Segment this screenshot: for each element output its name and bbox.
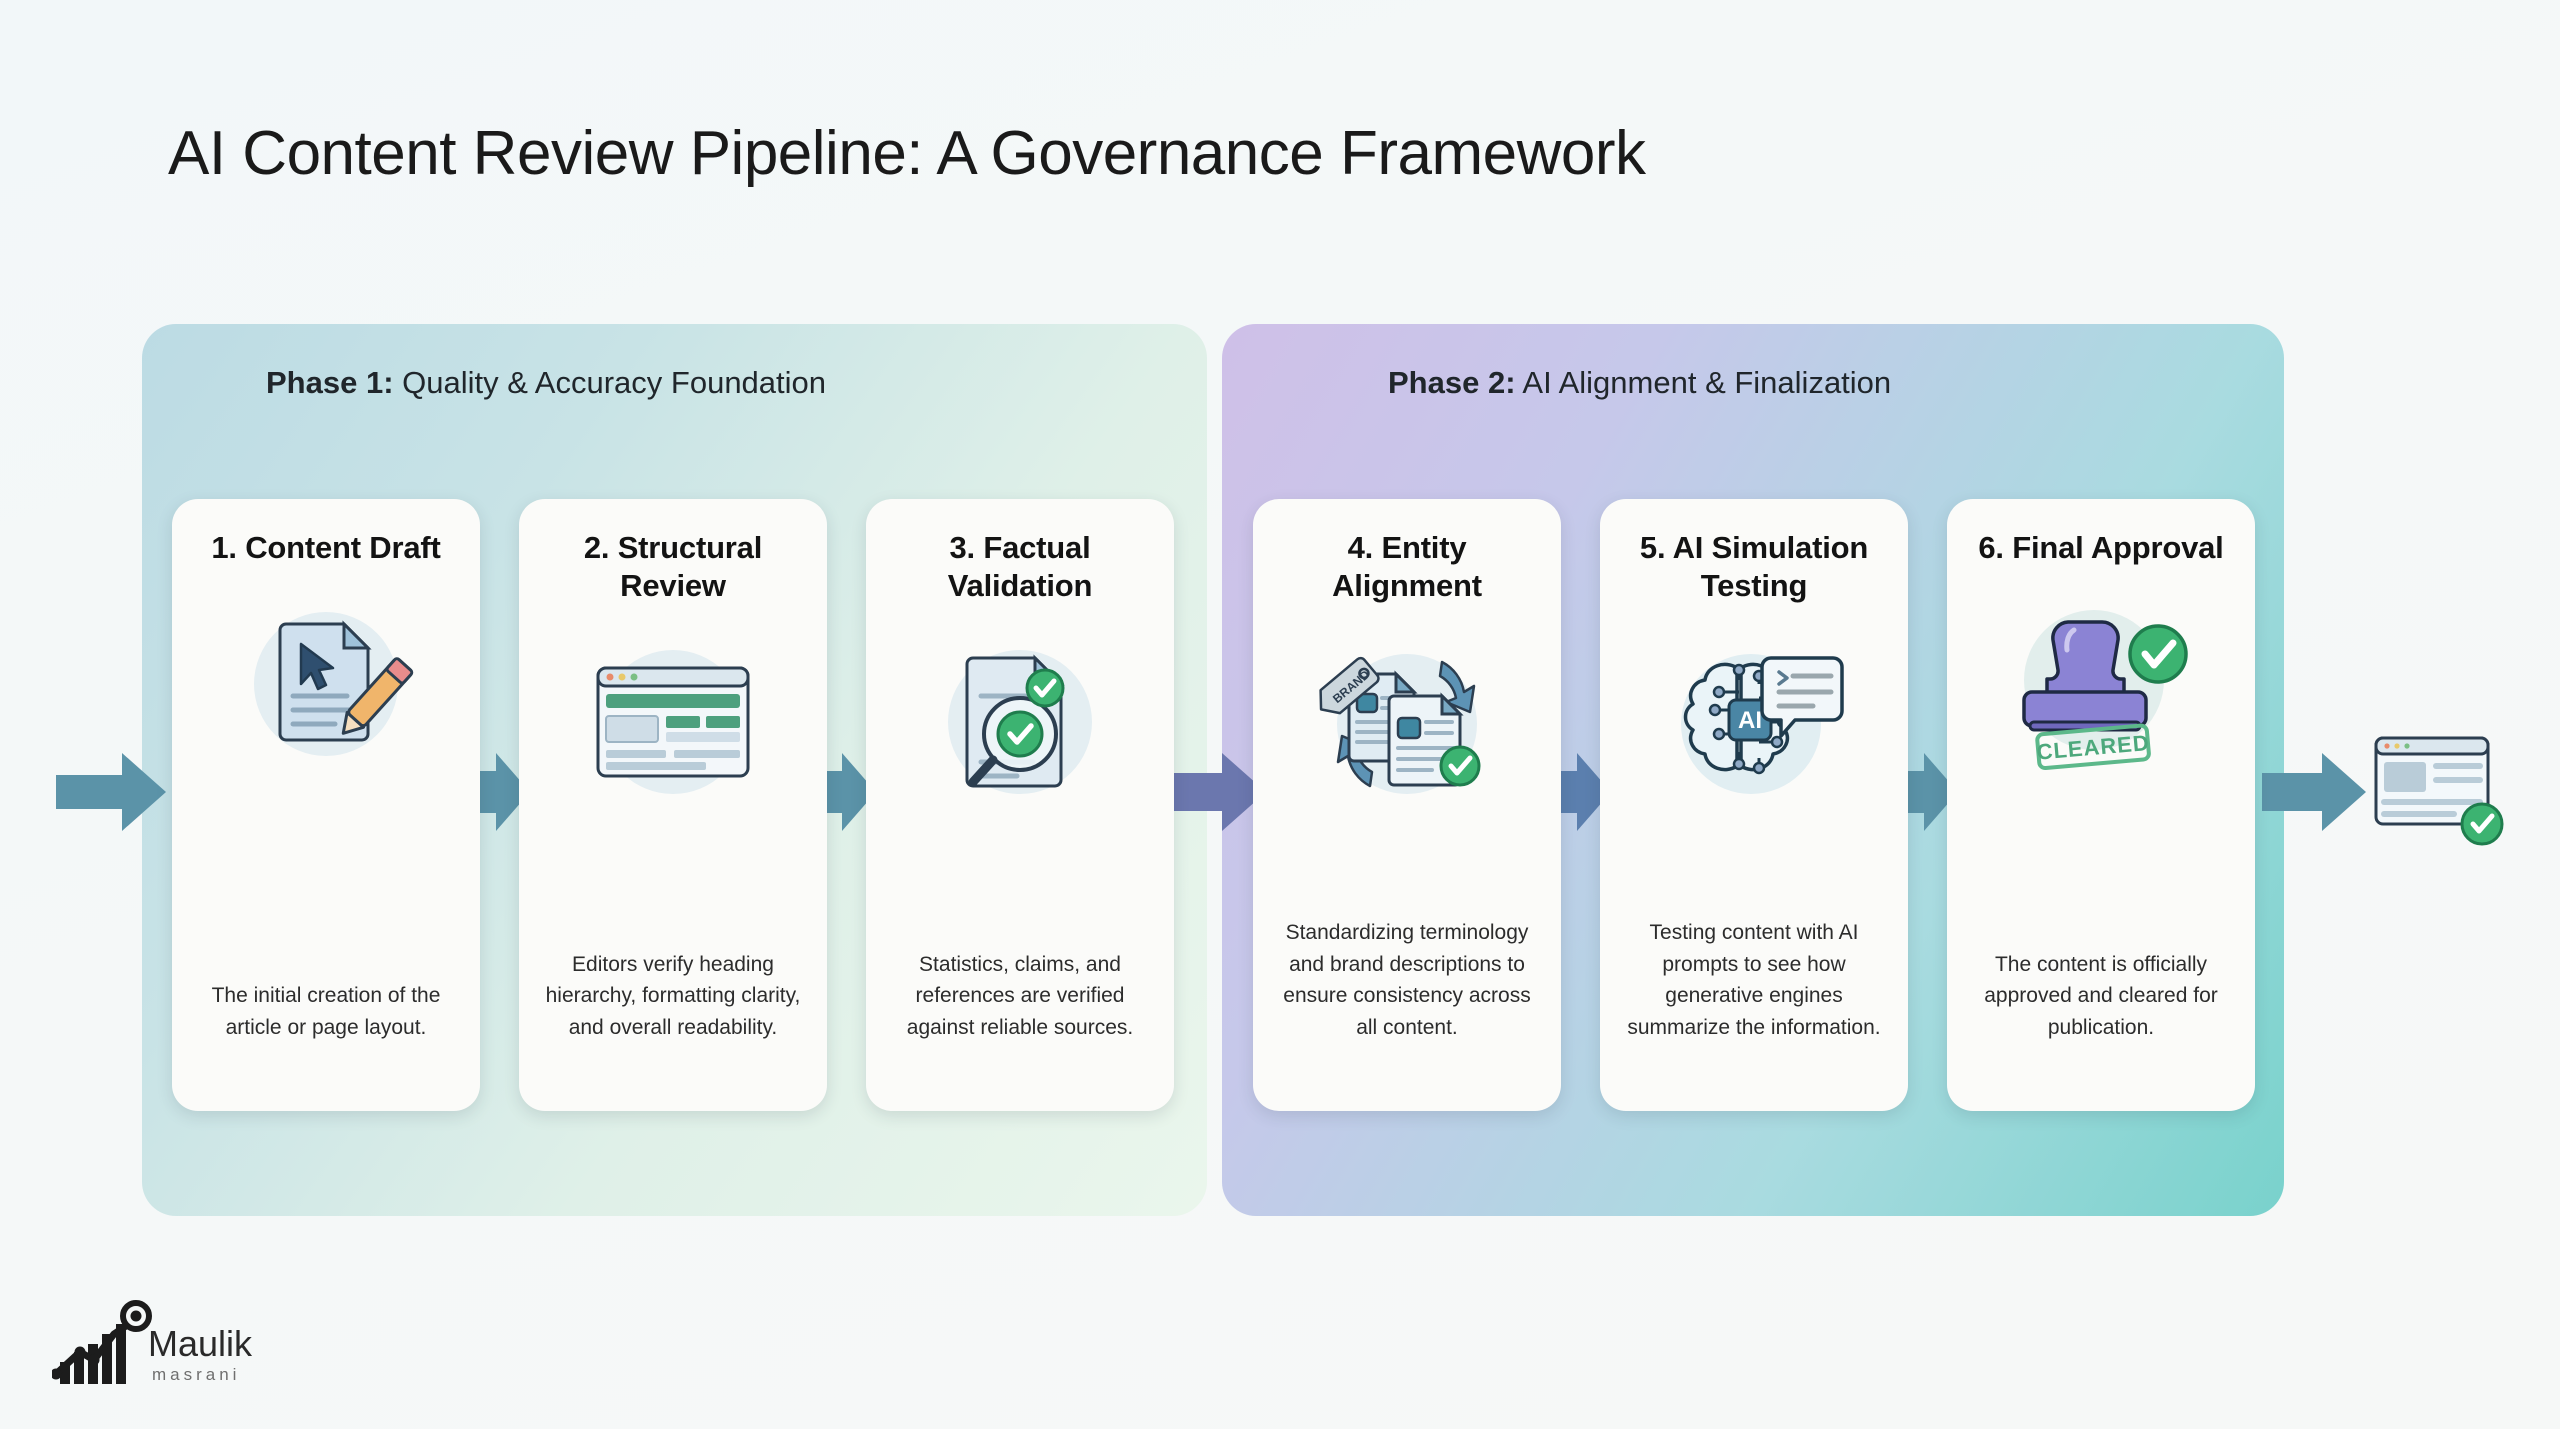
document-magnifier-check-icon (920, 627, 1120, 817)
step-6-description: The content is officially approved and c… (1965, 949, 2237, 1044)
infographic-canvas: AI Content Review Pipeline: A Governance… (0, 0, 2560, 1429)
step-5-description: Testing content with AI prompts to see h… (1618, 917, 1890, 1043)
flow-arrow-in (56, 753, 166, 831)
step-6-title: 6. Final Approval (1978, 529, 2223, 567)
step-5-title: 5. AI Simulation Testing (1618, 529, 1890, 605)
growth-chart-magnifier-logo-icon (52, 1303, 149, 1384)
logo-secondary-text: masrani (152, 1365, 240, 1384)
step-card-5[interactable]: 5. AI Simulation Testing AI (1600, 499, 1908, 1111)
phase-2-label-bold: Phase 2: (1388, 365, 1516, 400)
webpage-wireframe-icon (573, 627, 773, 817)
brand-logo[interactable]: Maulik masrani (52, 1300, 302, 1396)
step-card-2[interactable]: 2. Structural Review Editors verify head… (519, 499, 827, 1111)
step-card-3[interactable]: 3. Factual Validation Statistics, claims (866, 499, 1174, 1111)
step-3-description: Statistics, claims, and references are v… (884, 949, 1156, 1044)
step-2-description: Editors verify heading hierarchy, format… (537, 949, 809, 1044)
phase-1-label-rest: Quality & Accuracy Foundation (394, 365, 827, 400)
phase-2-label: Phase 2: AI Alignment & Finalization (1388, 365, 1891, 401)
page-title: AI Content Review Pipeline: A Governance… (168, 118, 1646, 189)
ai-chip-label: AI (1738, 707, 1762, 734)
logo-primary-text: Maulik (148, 1323, 253, 1364)
step-card-1[interactable]: 1. Content Draft The initial creat (172, 499, 480, 1111)
step-4-title: 4. Entity Alignment (1271, 529, 1543, 605)
step-4-description: Standardizing terminology and brand desc… (1271, 917, 1543, 1043)
step-1-title: 1. Content Draft (211, 529, 440, 567)
step-3-title: 3. Factual Validation (884, 529, 1156, 605)
step-card-6[interactable]: 6. Final Approval CLEARED The content is… (1947, 499, 2255, 1111)
published-page-check-icon (2370, 730, 2510, 850)
step-card-4[interactable]: 4. Entity Alignment BRAND (1253, 499, 1561, 1111)
brand-tag-documents-sync-icon: BRAND (1307, 627, 1507, 817)
phase-2-label-rest: AI Alignment & Finalization (1516, 365, 1892, 400)
flow-arrow-3-4 (1162, 753, 1266, 831)
approval-stamp-icon: CLEARED (2001, 589, 2201, 779)
step-1-description: The initial creation of the article or p… (190, 980, 462, 1043)
step-2-title: 2. Structural Review (537, 529, 809, 605)
flow-arrow-out (2262, 753, 2366, 831)
phase-1-label: Phase 1: Quality & Accuracy Foundation (266, 365, 826, 401)
document-cursor-pencil-icon (226, 589, 426, 779)
ai-brain-chat-icon: AI (1654, 627, 1854, 817)
phase-1-label-bold: Phase 1: (266, 365, 394, 400)
